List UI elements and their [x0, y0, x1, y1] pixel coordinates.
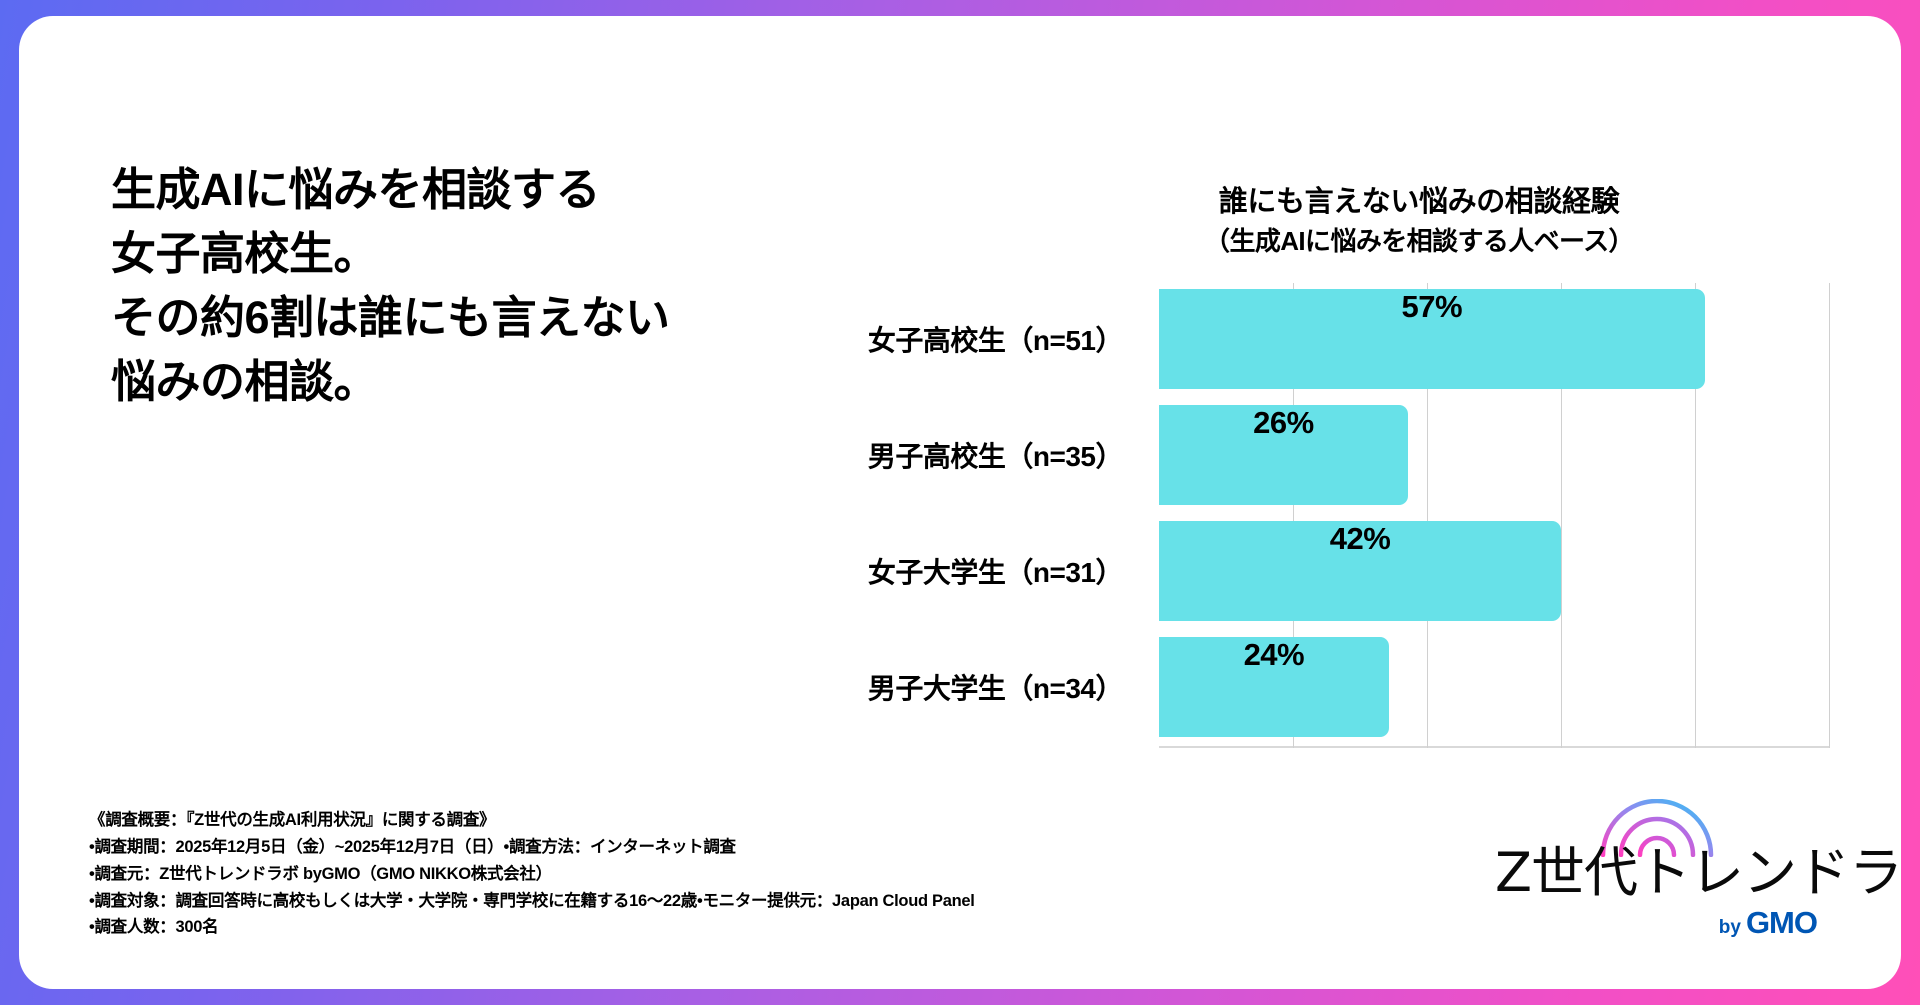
bar-value-label: 24% — [1244, 637, 1305, 673]
chart-subtitle: （生成AIに悩みを相談する人ベース） — [1009, 225, 1829, 258]
bar-value-label: 42% — [1330, 521, 1391, 557]
infographic-card: 生成AIに悩みを相談する 女子高校生。 その約6割は誰にも言えない 悩みの相談。… — [19, 16, 1901, 989]
bar-value-label: 57% — [1402, 289, 1463, 325]
category-label: 男子大学生（n=34） — [809, 667, 1149, 707]
bar-value-label: 26% — [1253, 405, 1314, 441]
headline-line-4: 悩みの相談。 — [111, 350, 811, 414]
survey-note-line-4: •調査対象：調査回答時に高校もしくは大学・大学院・専門学校に在籍する16〜22歳… — [89, 888, 1409, 915]
survey-note-line-2: •調査期間：2025年12月5日（金）~2025年12月7日（日）•調査方法：イ… — [89, 834, 1409, 861]
survey-note-line-5: •調査人数：300名 — [89, 914, 1409, 941]
table-row: 女子大学生（n=31）42% — [809, 521, 1829, 621]
bar-track: 24% — [1159, 637, 1829, 737]
headline-line-2: 女子高校生。 — [111, 222, 811, 286]
logo-wordmark: Z世代トレンドラボ — [1495, 828, 1835, 907]
table-row: 男子大学生（n=34）24% — [809, 637, 1829, 737]
headline-line-3: その約6割は誰にも言えない — [111, 286, 811, 350]
logo-by-text: by — [1719, 917, 1741, 939]
table-row: 女子高校生（n=51）57% — [809, 289, 1829, 389]
category-label: 女子大学生（n=31） — [809, 551, 1149, 591]
bar-track: 57% — [1159, 289, 1829, 389]
gridline — [1829, 283, 1830, 748]
bar-track: 42% — [1159, 521, 1829, 621]
bar-chart: 誰にも言えない悩みの相談経験 （生成AIに悩みを相談する人ベース） 女子高校生（… — [809, 184, 1829, 748]
bar-track: 26% — [1159, 405, 1829, 505]
chart-title: 誰にも言えない悩みの相談経験 — [1009, 184, 1829, 221]
brand-logo: Z世代トレンドラボ by GMO — [1495, 803, 1835, 943]
survey-note-line-1: 《調査概要：『Z世代の生成AI利用状況』に関する調査》 — [89, 807, 1409, 834]
headline: 生成AIに悩みを相談する 女子高校生。 その約6割は誰にも言えない 悩みの相談。 — [111, 158, 811, 414]
category-label: 男子高校生（n=35） — [809, 435, 1149, 475]
survey-notes: 《調査概要：『Z世代の生成AI利用状況』に関する調査》 •調査期間：2025年1… — [89, 807, 1409, 941]
plot: 女子高校生（n=51）57%男子高校生（n=35）26%女子大学生（n=31）4… — [809, 283, 1829, 748]
survey-note-line-3: •調査元：Z世代トレンドラボ byGMO（GMO NIKKO株式会社） — [89, 861, 1409, 888]
headline-line-1: 生成AIに悩みを相談する — [111, 158, 811, 222]
category-label: 女子高校生（n=51） — [809, 319, 1149, 359]
logo-gmo-text: GMO — [1746, 905, 1817, 941]
by-gmo-lockup: by GMO — [1719, 905, 1817, 941]
table-row: 男子高校生（n=35）26% — [809, 405, 1829, 505]
